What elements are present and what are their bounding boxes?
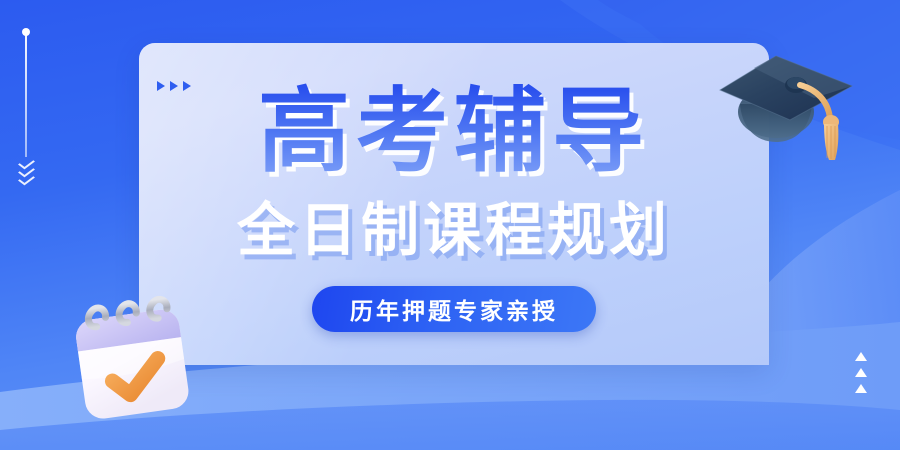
- badge-row: 历年押题专家亲授: [139, 260, 769, 332]
- rail-line: [25, 35, 27, 157]
- page-subtitle: 全日制课程规划: [139, 178, 769, 260]
- status-badge[interactable]: 历年押题专家亲授: [312, 286, 596, 332]
- triangle-up-icon-group: [855, 352, 869, 412]
- page-title: 高考辅导: [139, 43, 769, 178]
- text-stack: 高考辅导 全日制课程规划 历年押题专家亲授: [139, 43, 769, 332]
- chevron-down-icon-group: [20, 159, 34, 189]
- graduation-cap-icon: [714, 38, 864, 168]
- left-rail-decoration: [21, 28, 31, 208]
- calendar-check-icon: [66, 292, 201, 427]
- promo-banner: 高考辅导 全日制课程规划 历年押题专家亲授: [0, 0, 900, 450]
- content-card: 高考辅导 全日制课程规划 历年押题专家亲授: [139, 43, 769, 365]
